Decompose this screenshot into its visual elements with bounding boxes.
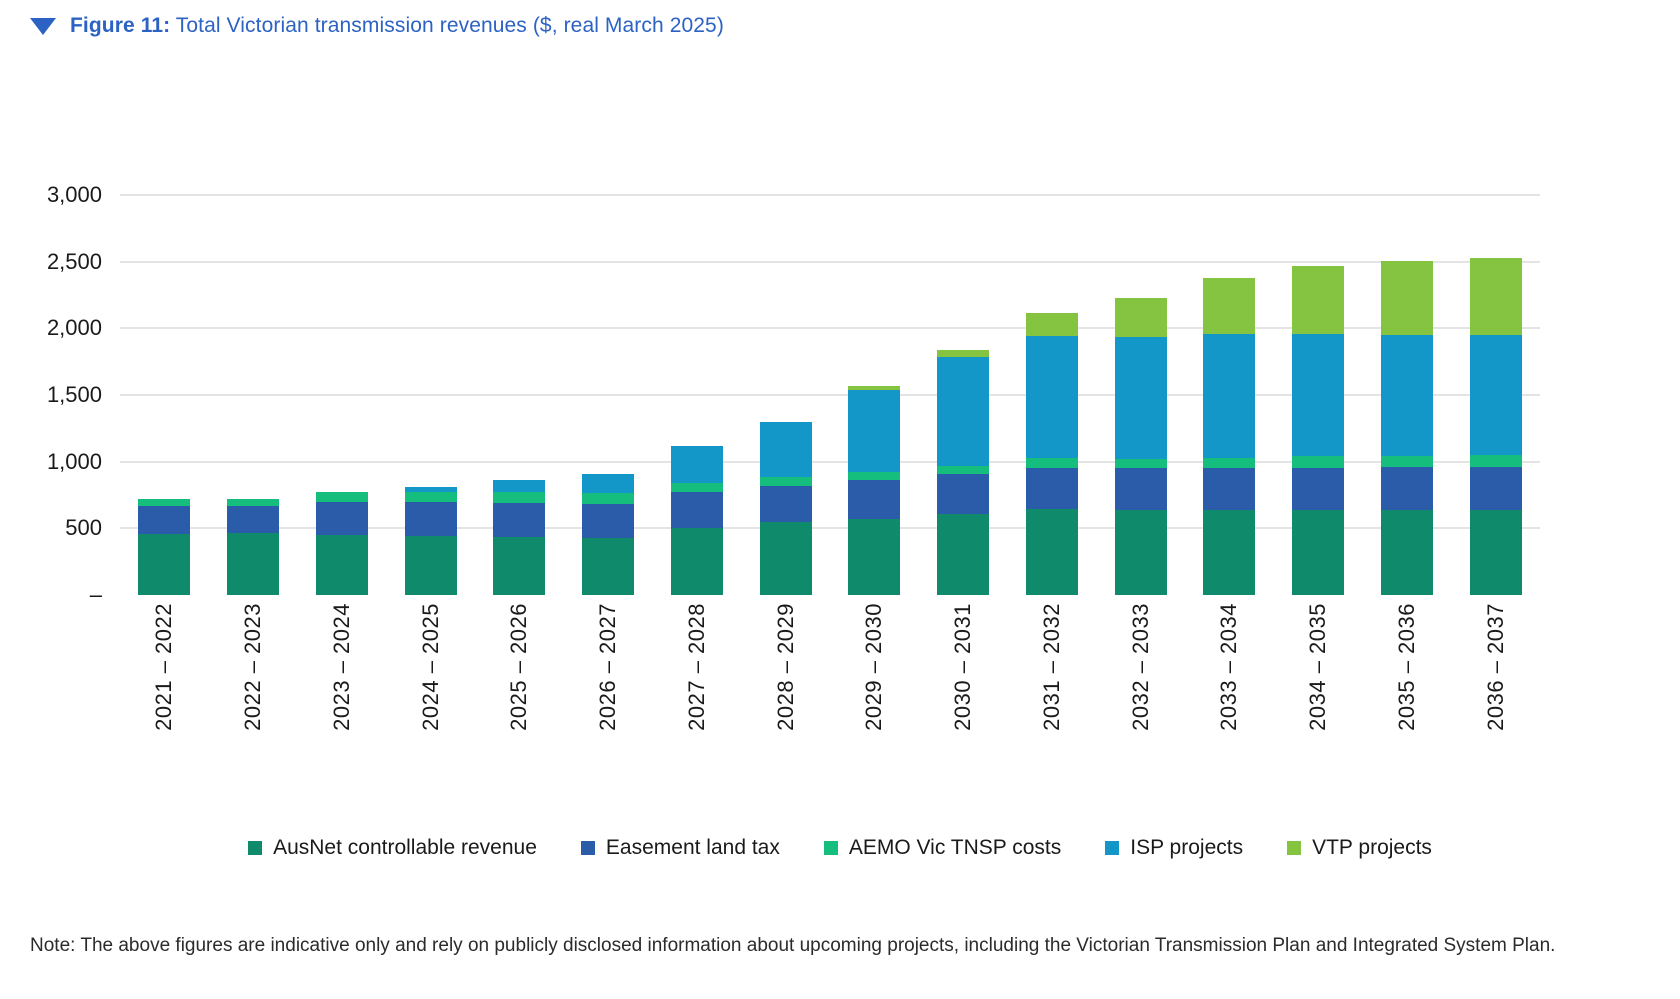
x-axis-tick-label: 2026 – 2027 [595, 603, 621, 731]
bar-segment[interactable] [493, 503, 545, 537]
bar-stack[interactable] [1292, 266, 1344, 595]
bar-stack[interactable] [1203, 278, 1255, 595]
bar-segment[interactable] [582, 504, 634, 539]
legend-swatch-icon [1105, 841, 1119, 855]
bar-segment[interactable] [316, 502, 368, 535]
legend-label: VTP projects [1312, 836, 1432, 860]
x-axis-tick-label: 2033 – 2034 [1216, 603, 1242, 731]
bar-segment[interactable] [493, 480, 545, 492]
bar-stack[interactable] [405, 487, 457, 595]
bar-segment[interactable] [1115, 298, 1167, 337]
bar-segment[interactable] [493, 492, 545, 503]
bar-segment[interactable] [227, 506, 279, 533]
bar-segment[interactable] [1203, 334, 1255, 459]
legend-item[interactable]: ISP projects [1105, 836, 1243, 860]
bar-segment[interactable] [937, 474, 989, 514]
bar-segment[interactable] [671, 483, 723, 492]
bar-segment[interactable] [227, 499, 279, 506]
bar-segment[interactable] [1026, 468, 1078, 509]
bar-stack[interactable] [1115, 298, 1167, 595]
bar-stack[interactable] [671, 446, 723, 595]
legend-item[interactable]: Easement land tax [581, 836, 780, 860]
legend-swatch-icon [1287, 841, 1301, 855]
figure-note-line-2: and Integrated System Plan. [1316, 935, 1556, 956]
bar-segment[interactable] [493, 537, 545, 595]
bar-stack[interactable] [138, 499, 190, 595]
y-axis-tick-label: – [90, 582, 102, 608]
bar-segment[interactable] [138, 534, 190, 595]
bar-segment[interactable] [227, 533, 279, 595]
y-axis-tick-label: 2,000 [47, 315, 102, 341]
bar-stack[interactable] [316, 492, 368, 595]
legend-item[interactable]: VTP projects [1287, 836, 1432, 860]
bar-segment[interactable] [1203, 278, 1255, 334]
legend-label: AEMO Vic TNSP costs [849, 836, 1061, 860]
bar-segment[interactable] [848, 472, 900, 481]
legend-label: Easement land tax [606, 836, 780, 860]
bar-segment[interactable] [937, 357, 989, 466]
bar-stack[interactable] [1470, 258, 1522, 595]
bar-segment[interactable] [316, 535, 368, 595]
bar-segment[interactable] [1470, 455, 1522, 467]
x-axis-tick-label: 2027 – 2028 [684, 603, 710, 731]
bar-segment[interactable] [316, 492, 368, 502]
bar-stack[interactable] [227, 499, 279, 595]
x-axis-tick-label: 2032 – 2033 [1128, 603, 1154, 731]
bar-segment[interactable] [848, 519, 900, 595]
bar-segment[interactable] [582, 493, 634, 504]
bar-segment[interactable] [1115, 337, 1167, 459]
bar-segment[interactable] [1381, 261, 1433, 335]
y-axis-tick-label: 2,500 [47, 249, 102, 275]
bar-segment[interactable] [1470, 258, 1522, 335]
bar-segment[interactable] [1026, 509, 1078, 595]
x-axis-tick-label: 2031 – 2032 [1039, 603, 1065, 731]
x-axis-tick-label: 2023 – 2024 [329, 603, 355, 731]
bar-segment[interactable] [405, 536, 457, 595]
bar-segment[interactable] [1470, 467, 1522, 510]
legend-label: ISP projects [1130, 836, 1243, 860]
bar-segment[interactable] [1292, 334, 1344, 456]
y-axis-tick-label: 1,000 [47, 449, 102, 475]
bar-segment[interactable] [760, 522, 812, 595]
bar-segment[interactable] [1026, 313, 1078, 336]
chart-legend: AusNet controllable revenueEasement land… [0, 836, 1680, 860]
bar-segment[interactable] [848, 480, 900, 519]
x-axis-tick-label: 2025 – 2026 [506, 603, 532, 731]
figure-note: Note: The above figures are indicative o… [30, 932, 1650, 960]
x-axis-tick-label: 2034 – 2035 [1305, 603, 1331, 731]
bar-segment[interactable] [937, 514, 989, 595]
legend-swatch-icon [824, 841, 838, 855]
x-axis-tick-label: 2036 – 2037 [1483, 603, 1509, 731]
bar-segment[interactable] [1026, 458, 1078, 468]
plot-area [120, 195, 1540, 595]
bar-segment[interactable] [1203, 458, 1255, 468]
bar-segment[interactable] [405, 502, 457, 536]
chart-canvas: –5001,0001,5002,0002,5003,000 [0, 195, 1680, 595]
bar-stack[interactable] [760, 422, 812, 595]
figure-note-line-1: Note: The above figures are indicative o… [30, 935, 1310, 956]
bar-stack[interactable] [848, 386, 900, 595]
bar-segment[interactable] [1381, 467, 1433, 510]
bar-segment[interactable] [1381, 510, 1433, 595]
bar-segment[interactable] [760, 477, 812, 486]
page-title: Figure 11: Total Victorian transmission … [70, 14, 724, 38]
bar-segment[interactable] [1115, 510, 1167, 595]
legend-swatch-icon [248, 841, 262, 855]
bar-segment[interactable] [760, 486, 812, 522]
bar-segment[interactable] [937, 350, 989, 357]
bar-stack[interactable] [937, 350, 989, 595]
x-axis-tick-label: 2030 – 2031 [950, 603, 976, 731]
figure-title: Figure 11: Total Victorian transmission … [30, 14, 724, 38]
bar-segment[interactable] [1203, 468, 1255, 509]
bar-segment[interactable] [1470, 335, 1522, 455]
legend-item[interactable]: AusNet controllable revenue [248, 836, 537, 860]
bar-segment[interactable] [1115, 459, 1167, 468]
bar-segment[interactable] [582, 474, 634, 493]
bar-segment[interactable] [1381, 335, 1433, 456]
bar-segment[interactable] [405, 492, 457, 502]
bar-segment[interactable] [671, 492, 723, 529]
x-axis-tick-label: 2024 – 2025 [418, 603, 444, 731]
bar-segment[interactable] [1292, 456, 1344, 467]
y-axis: –5001,0001,5002,0002,5003,000 [0, 195, 120, 595]
bar-stack[interactable] [1381, 261, 1433, 595]
bar-segment[interactable] [1470, 510, 1522, 595]
bar-segment[interactable] [1203, 510, 1255, 595]
legend-swatch-icon [581, 841, 595, 855]
legend-item[interactable]: AEMO Vic TNSP costs [824, 836, 1061, 860]
bar-segment[interactable] [1381, 456, 1433, 467]
figure-number: Figure 11: [70, 14, 170, 37]
x-axis: 2021 – 20222022 – 20232023 – 20242024 – … [120, 603, 1540, 753]
legend-label: AusNet controllable revenue [273, 836, 537, 860]
bar-segment[interactable] [937, 466, 989, 474]
bar-segment[interactable] [138, 506, 190, 533]
figure-caption: Total Victorian transmission revenues ($… [176, 14, 724, 37]
bar-segment[interactable] [582, 538, 634, 595]
y-axis-tick-label: 3,000 [47, 182, 102, 208]
bar-segment[interactable] [671, 446, 723, 483]
x-axis-tick-label: 2021 – 2022 [151, 603, 177, 731]
triangle-down-icon[interactable] [30, 18, 56, 35]
x-axis-tick-label: 2029 – 2030 [861, 603, 887, 731]
bar-segment[interactable] [1292, 510, 1344, 595]
bar-segment[interactable] [760, 422, 812, 477]
y-axis-tick-label: 1,500 [47, 382, 102, 408]
bar-stack[interactable] [582, 474, 634, 595]
bar-stack[interactable] [493, 480, 545, 595]
y-axis-tick-label: 500 [65, 515, 102, 541]
bar-series-container [120, 195, 1540, 595]
bar-segment[interactable] [1292, 468, 1344, 510]
x-axis-tick-label: 2022 – 2023 [240, 603, 266, 731]
bar-stack[interactable] [1026, 313, 1078, 595]
bar-segment[interactable] [1115, 468, 1167, 509]
bar-segment[interactable] [138, 499, 190, 506]
bar-segment[interactable] [1292, 266, 1344, 335]
x-axis-tick-label: 2035 – 2036 [1394, 603, 1420, 731]
x-axis-tick-label: 2028 – 2029 [773, 603, 799, 731]
bar-segment[interactable] [671, 528, 723, 595]
bar-segment[interactable] [1026, 336, 1078, 459]
bar-segment[interactable] [848, 390, 900, 472]
